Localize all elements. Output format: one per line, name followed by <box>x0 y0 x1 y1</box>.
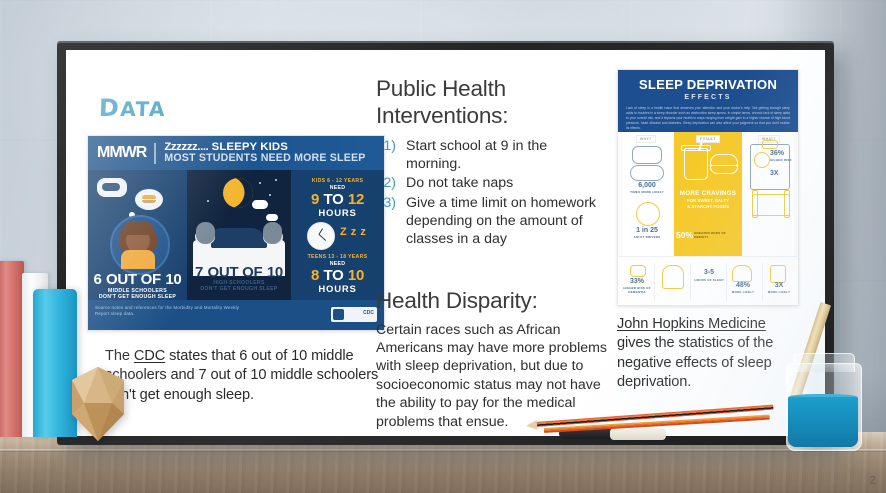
mmwr-teens-value-a: 8 <box>311 267 319 284</box>
sde-center-headline-3: & STARCHY FOODS <box>674 204 742 209</box>
health-disparity-block: Health Disparity: Certain races such as … <box>376 288 616 431</box>
cdc-caption-pre: The <box>105 348 134 364</box>
sleeper-left <box>196 222 215 244</box>
public-health-list: 1) Start school at 9 in the morning. 2) … <box>376 137 606 248</box>
head-profile-icon <box>662 265 684 289</box>
glass-jar <box>786 349 860 449</box>
sde-label-why: WHY? <box>636 135 656 143</box>
star-icon <box>259 182 261 184</box>
sde-stat-36-caption: HIGHER RISK <box>770 159 792 163</box>
list-item-label: Do not take naps <box>406 174 606 192</box>
list-item: 1) Start school at 9 in the morning. <box>376 137 606 173</box>
sde-center-headline-1: MORE CRAVINGS <box>674 190 742 197</box>
star-icon <box>275 179 277 181</box>
public-health-interventions-block: Public Health Interventions: 1) Start sc… <box>376 76 606 249</box>
health-disparity-body: Certain races such as African Americans … <box>376 321 616 432</box>
brain-icon <box>754 152 770 168</box>
bed-blanket <box>211 228 267 248</box>
sde-divider <box>690 263 691 301</box>
bottle-icon <box>770 265 786 283</box>
sde-stat-1in25-caption: ADULT DRIVERS <box>622 236 672 240</box>
mmwr-middle-stat-number: 7 <box>195 264 203 281</box>
sde-stat-3x-b: 3X <box>764 282 794 289</box>
presentation-slide: Data MMWR Zzzzzz.... SLEEPY KIDS MOST ST… <box>66 50 825 436</box>
mmwr-middle-caption2: DON'T GET ENOUGH SLEEP <box>187 286 291 293</box>
mmwr-teens-value-to: TO <box>323 267 343 284</box>
sde-stat-48-caption: MORE LIKELY <box>726 291 760 295</box>
mmwr-kids-hours: HOURS <box>291 208 384 219</box>
stethoscope-icon <box>630 165 664 181</box>
clock-hand-minute <box>319 234 326 241</box>
book-red <box>0 261 24 437</box>
sde-stat-48: 48% <box>728 282 758 289</box>
mmwr-logo: MMWR <box>88 144 154 162</box>
soda-cup-icon <box>684 148 708 180</box>
john-hopkins-link[interactable]: John Hopkins Medicine <box>617 316 766 332</box>
sde-stat-35-caption: HOURS OF SLEEP <box>692 279 726 283</box>
mmwr-middle-stat-rest: OUT OF <box>208 264 263 281</box>
clock-icon <box>307 222 335 250</box>
burger-icon-base <box>142 200 156 203</box>
sde-divider <box>726 263 727 301</box>
mmwr-kids-value-to: TO <box>323 191 343 208</box>
mmwr-title-line2: MOST STUDENTS NEED MORE SLEEP <box>164 153 365 164</box>
list-item-number: 3) <box>376 194 396 249</box>
sde-header: SLEEP DEPRIVATION EFFECTS Lack of sleep … <box>618 70 798 132</box>
pill-bottle-icon <box>632 146 662 164</box>
sleep-cloud <box>266 214 278 221</box>
mmwr-kids-value-a: 9 <box>311 191 319 208</box>
mmwr-kids-value: 9 TO 12 <box>291 191 384 209</box>
geometric-wood-ornament <box>62 367 134 441</box>
mmwr-kids-label-1: KIDS 6 - 12 YEARS <box>291 178 384 185</box>
sde-divider <box>654 263 655 301</box>
sleep-deprivation-effects-infographic[interactable]: SLEEP DEPRIVATION EFFECTS Lack of sleep … <box>617 69 799 306</box>
mmwr-footer: Source notes and references for the Morb… <box>88 300 384 330</box>
steering-wheel-icon <box>636 202 660 226</box>
mmwr-title-main: SLEEPY KIDS <box>212 141 288 153</box>
jar-water <box>788 397 858 447</box>
girl-shirt <box>121 250 155 269</box>
cdc-footer-logo-mark <box>333 309 344 320</box>
clipboard-clip-icon <box>762 140 778 149</box>
sde-subtitle: EFFECTS <box>618 94 798 101</box>
list-item-label: Start school at 9 in the morning. <box>406 137 606 173</box>
sde-intro-text: Lack of sleep is a health issue that des… <box>626 106 790 132</box>
mmwr-teens-value-b: 10 <box>348 267 364 284</box>
cdc-footer-logo-text: CDC <box>363 310 374 316</box>
mmwr-teens-hours: HOURS <box>291 284 384 295</box>
sde-stat-35: 3-5 <box>694 269 724 276</box>
burger-icon <box>142 195 156 199</box>
cdc-link[interactable]: CDC <box>134 348 165 364</box>
list-item: 2) Do not take naps <box>376 174 606 192</box>
mmwr-left-stat-rest: OUT OF <box>106 271 161 288</box>
list-item: 3) Give a time limit on homework dependi… <box>376 194 606 249</box>
bed-post-right <box>784 190 790 218</box>
eraser-white <box>610 428 666 440</box>
cdc-caption: The CDC states that 6 out of 10 middle s… <box>105 347 385 405</box>
sde-stat-33: 33% <box>622 278 652 285</box>
sleeper-right <box>263 222 282 244</box>
mmwr-body: 6 OUT OF 10 MIDDLE SCHOOLERS DON'T GET E… <box>88 170 384 300</box>
john-hopkins-caption: John Hopkins Medicine gives the statisti… <box>617 315 787 392</box>
sde-grid: WHY? RESULT WHAT? 6,000 TIMES MORE LIKEL… <box>618 132 798 305</box>
list-item-number: 1) <box>376 137 396 173</box>
list-item-number: 2) <box>376 174 396 192</box>
sleep-cloud <box>252 200 268 209</box>
mmwr-footer-note: Source notes and references for the Morb… <box>95 305 245 317</box>
page-title: Data <box>98 85 166 125</box>
pencil-tip <box>526 419 538 430</box>
sde-stat-1in25: 1 in 25 <box>622 227 672 234</box>
mmwr-left-panel: 6 OUT OF 10 MIDDLE SCHOOLERS DON'T GET E… <box>88 170 187 300</box>
desk-highlight-edge <box>0 449 886 452</box>
sde-bottom-strip: 33% HIGHER RISK OF DEMENTIA 3-5 HOURS OF… <box>618 256 798 306</box>
list-item-label: Give a time limit on homework depending … <box>406 194 606 249</box>
mmwr-kids-value-b: 12 <box>348 191 364 208</box>
sde-stat-6000: 6,000 <box>622 182 672 189</box>
mmwr-header-titles: Zzzzzz.... SLEEPY KIDS MOST STUDENTS NEE… <box>156 142 365 164</box>
mmwr-middle-panel: 7 OUT OF 10 HIGH SCHOOLERS DON'T GET ENO… <box>187 170 291 300</box>
star-icon <box>269 194 271 196</box>
health-disparity-heading: Health Disparity: <box>376 288 616 315</box>
bed-post-left <box>752 190 758 218</box>
mmwr-sleepy-kids-infographic[interactable]: MMWR Zzzzzz.... SLEEPY KIDS MOST STUDENT… <box>87 135 385 331</box>
sde-stat-36: 36% <box>770 150 784 157</box>
whiteboard-frame: Data MMWR Zzzzzz.... SLEEPY KIDS MOST ST… <box>57 41 834 445</box>
sde-stat-6000-caption: TIMES MORE LIKELY <box>622 191 672 195</box>
mmwr-teens-value: 8 TO 10 <box>291 267 384 285</box>
public-health-heading: Public Health Interventions: <box>376 76 606 129</box>
mmwr-middle-stat-total: 10 <box>267 264 283 281</box>
sde-stat-50-caption: GREATER ODDS OF OBESITY <box>694 232 738 240</box>
mmwr-right-panel: KIDS 6 - 12 YEARS NEED 9 TO 12 HOURS Z z… <box>291 170 384 300</box>
burger-bottom-icon <box>710 165 738 174</box>
mmwr-header: MMWR Zzzzzz.... SLEEPY KIDS MOST STUDENT… <box>88 136 384 170</box>
mmwr-left-stat-total: 10 <box>165 271 181 288</box>
soda-cup-lid <box>681 145 711 151</box>
sde-stat-3x-b-caption: MORE LIKELY <box>762 291 796 295</box>
sde-title: SLEEP DEPRIVATION <box>618 77 798 92</box>
mmwr-zzz-lead: Zzzzzz.... <box>164 141 208 153</box>
star-icon <box>207 200 209 202</box>
girl-bangs <box>122 221 154 235</box>
scissors-icon <box>630 265 646 277</box>
sde-divider <box>762 263 763 301</box>
sde-stat-33-caption: HIGHER RISK OF DEMENTIA <box>620 287 654 295</box>
john-hopkins-caption-post: gives the statistics of the negative eff… <box>617 335 773 390</box>
heart-icon <box>732 265 752 282</box>
page-number: 2 <box>869 473 876 487</box>
sde-center-headline-2: FOR SWEET, SALTY <box>674 198 742 203</box>
sde-stat-3x-a: 3X <box>770 170 779 177</box>
bubble-cloud-icon <box>102 183 120 191</box>
mmwr-left-stat-number: 6 <box>94 271 102 288</box>
sde-stat-50: 50% <box>676 230 693 240</box>
mmwr-teens-label-1: TEENS 13 - 18 YEARS <box>291 254 384 261</box>
mmwr-zzz-text: Z z z <box>340 226 366 238</box>
mmwr-left-stat: 6 OUT OF 10 <box>88 271 187 289</box>
